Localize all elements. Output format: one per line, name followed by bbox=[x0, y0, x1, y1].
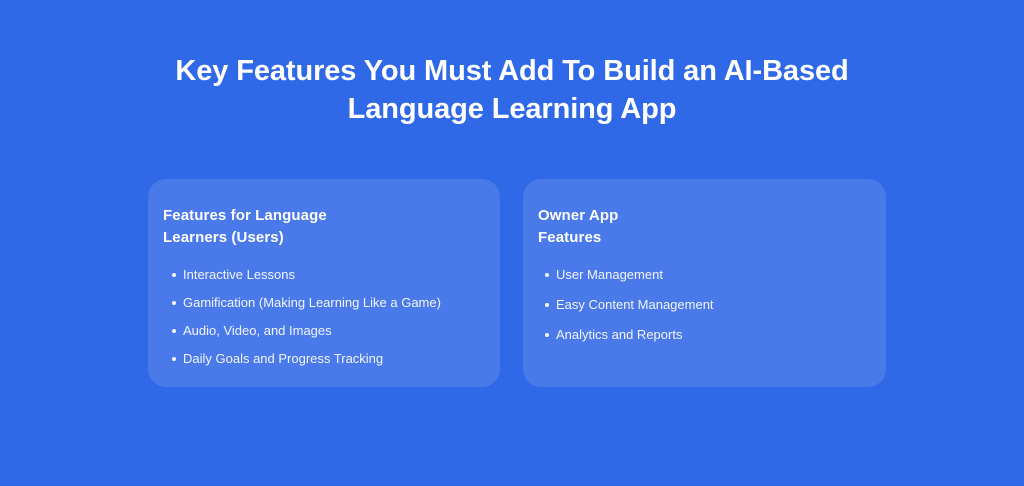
bullet-dot-icon bbox=[172, 301, 176, 305]
page-title-line-2: Language Learning App bbox=[0, 90, 1024, 128]
card-heading-line-1: Features for Language bbox=[163, 205, 500, 227]
slide-canvas: Key Features You Must Add To Build an AI… bbox=[0, 0, 1024, 486]
list-item: Gamification (Making Learning Like a Gam… bbox=[148, 294, 500, 312]
bullet-dot-icon bbox=[545, 333, 549, 337]
feature-cards-row: Features for Language Learners (Users) I… bbox=[148, 179, 886, 387]
card-heading-line-1: Owner App bbox=[538, 205, 886, 227]
page-title: Key Features You Must Add To Build an AI… bbox=[0, 52, 1024, 128]
list-item-label: Analytics and Reports bbox=[556, 327, 682, 342]
bullet-dot-icon bbox=[172, 357, 176, 361]
list-item-label: Easy Content Management bbox=[556, 297, 714, 312]
feature-list-owner-app: User Management Easy Content Management … bbox=[523, 266, 886, 344]
feature-card-owner-app: Owner App Features User Management Easy … bbox=[523, 179, 886, 387]
card-heading-language-learners: Features for Language Learners (Users) bbox=[163, 205, 500, 249]
list-item: Analytics and Reports bbox=[523, 326, 886, 344]
feature-list-language-learners: Interactive Lessons Gamification (Making… bbox=[148, 266, 500, 368]
bullet-dot-icon bbox=[172, 273, 176, 277]
card-heading-line-2: Learners (Users) bbox=[163, 227, 500, 249]
list-item-label: Interactive Lessons bbox=[183, 267, 295, 282]
list-item-label: User Management bbox=[556, 267, 663, 282]
list-item: User Management bbox=[523, 266, 886, 284]
list-item: Interactive Lessons bbox=[148, 266, 500, 284]
card-heading-line-2: Features bbox=[538, 227, 886, 249]
list-item-label: Gamification (Making Learning Like a Gam… bbox=[183, 295, 441, 310]
page-title-line-1: Key Features You Must Add To Build an AI… bbox=[0, 52, 1024, 90]
list-item: Audio, Video, and Images bbox=[148, 322, 500, 340]
list-item: Easy Content Management bbox=[523, 296, 886, 314]
feature-card-language-learners: Features for Language Learners (Users) I… bbox=[148, 179, 500, 387]
card-heading-owner-app: Owner App Features bbox=[538, 205, 886, 249]
bullet-dot-icon bbox=[545, 303, 549, 307]
list-item: Daily Goals and Progress Tracking bbox=[148, 350, 500, 368]
bullet-dot-icon bbox=[172, 329, 176, 333]
list-item-label: Audio, Video, and Images bbox=[183, 323, 332, 338]
bullet-dot-icon bbox=[545, 273, 549, 277]
list-item-label: Daily Goals and Progress Tracking bbox=[183, 351, 383, 366]
